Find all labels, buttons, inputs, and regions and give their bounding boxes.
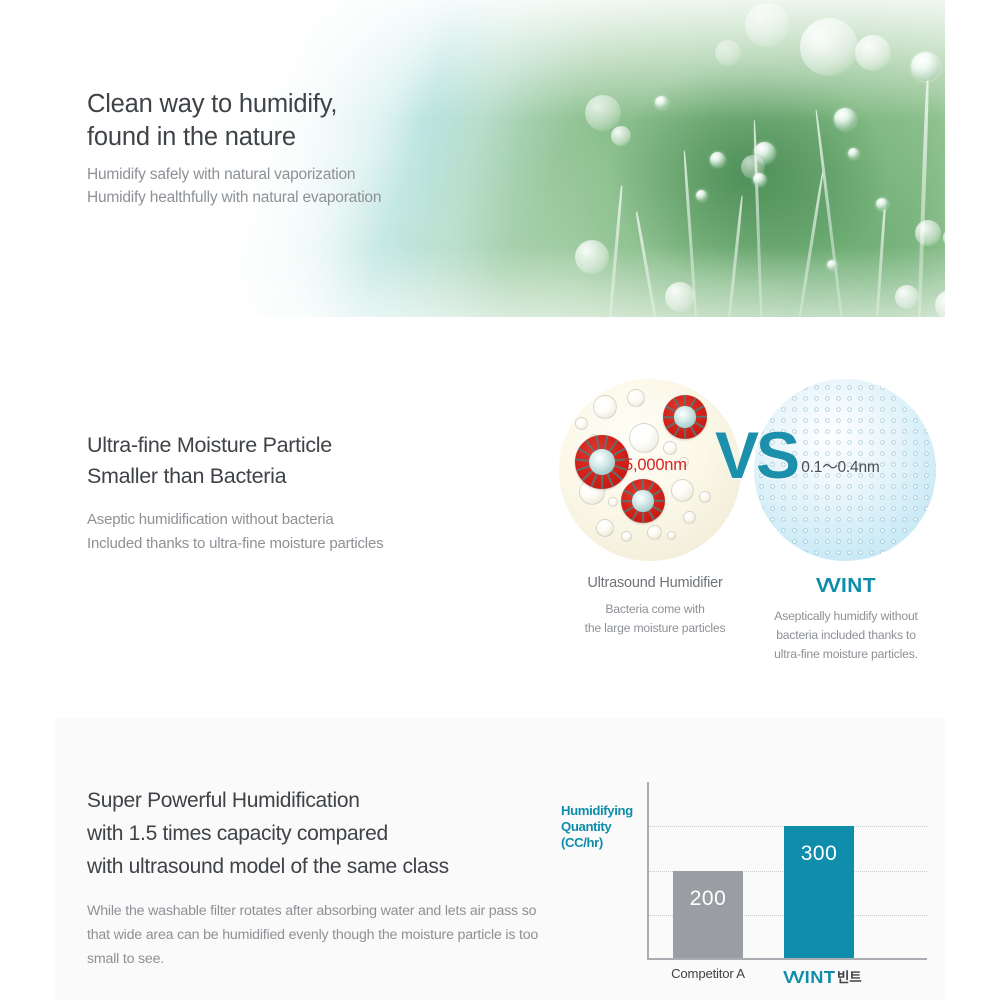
vvint-caption-body-line-1: Aseptically humidify without — [748, 607, 944, 626]
vvint-logo-int: INT — [805, 967, 836, 987]
particle-section: Ultra-fine Moisture Particle Smaller tha… — [55, 317, 945, 718]
humidifying-quantity-chart: Humidifying Quantity (CC/hr) 200 300 Com… — [555, 782, 955, 992]
chart-bar-value-vvint: 300 — [784, 842, 854, 866]
vvint-logo-text: VVINT — [816, 575, 876, 598]
chart-bar-vvint: 300 — [784, 826, 854, 958]
ultrasound-caption-heading: Ultrasound Humidifier — [560, 575, 750, 591]
particle-subtitle-line-2: Included thanks to ultra-fine moisture p… — [87, 532, 383, 556]
hero-text-block: Clean way to humidify, found in the natu… — [87, 88, 381, 209]
chart-bar-competitor-a: 200 — [673, 871, 743, 958]
hero-banner: Clean way to humidify, found in the natu… — [55, 0, 945, 317]
vs-comparison-graphic: 5,000nm ○ 0.1〜0.4nm VS Ultrasound Humidi… — [550, 375, 950, 695]
power-text-block: Super Powerful Humidification with 1.5 t… — [87, 784, 557, 971]
ultrasound-caption-body-line-1: Bacteria come with — [560, 600, 750, 619]
bacteria-icon — [621, 479, 665, 523]
hero-bottom-fade — [55, 247, 945, 317]
bacteria-icon — [663, 395, 707, 439]
particle-title-line-2: Smaller than Bacteria — [87, 461, 383, 492]
ultrasound-particle-size-label: 5,000nm — [624, 456, 687, 475]
power-title-line-2: with 1.5 times capacity compared — [87, 817, 557, 850]
particle-text-block: Ultra-fine Moisture Particle Smaller tha… — [87, 430, 383, 556]
particle-title-line-1: Ultra-fine Moisture Particle — [87, 430, 383, 461]
vvint-logo-vv: VV — [783, 967, 802, 987]
chart-bar-value-competitor-a: 200 — [673, 887, 743, 911]
vvint-caption-body-line-2: bacteria included thanks to — [748, 626, 944, 645]
vs-label: VS — [715, 422, 797, 488]
vvint-logo-text: VVINT — [783, 967, 836, 988]
chart-xtick-competitor-a: Competitor A — [653, 966, 763, 981]
chart-y-axis-label-line-1: Humidifying — [561, 803, 633, 819]
ultrasound-caption-body-line-2: the large moisture particles — [560, 619, 750, 638]
chart-y-axis-label-line-3: (CC/hr) — [561, 835, 633, 851]
chart-x-axis — [647, 958, 927, 960]
power-description: While the washable filter rotates after … — [87, 899, 557, 971]
chart-xtick-vvint: VVINT빈트 — [764, 966, 882, 988]
humidification-power-section: Super Powerful Humidification with 1.5 t… — [55, 718, 945, 1000]
vvint-caption-body: Aseptically humidify without bacteria in… — [748, 607, 944, 664]
power-title-line-3: with ultrasound model of the same class — [87, 850, 557, 883]
chart-y-axis-label-line-2: Quantity — [561, 819, 633, 835]
hero-title-line-2: found in the nature — [87, 121, 381, 154]
bacteria-icon — [575, 435, 629, 489]
vvint-logo-korean: 빈트 — [837, 970, 861, 985]
particle-subtitle-line-1: Aseptic humidification without bacteria — [87, 508, 383, 532]
vvint-logo-int: INT — [841, 575, 876, 597]
vvint-brand-logo: VVINT — [748, 575, 944, 598]
chart-plot-area: 200 300 Competitor A VVINT빈트 — [647, 782, 927, 960]
ultrasound-caption: Ultrasound Humidifier Bacteria come with… — [560, 575, 750, 638]
hero-subtitle-line-1: Humidify safely with natural vaporizatio… — [87, 163, 381, 186]
power-title-line-1: Super Powerful Humidification — [87, 784, 557, 817]
vvint-logo-vv: VV — [816, 575, 839, 597]
vvint-caption-body-line-3: ultra-fine moisture particles. — [748, 645, 944, 664]
hero-title-line-1: Clean way to humidify, — [87, 88, 381, 121]
vvint-particle-size-label: ○ 0.1〜0.4nm — [788, 455, 880, 477]
ultrasound-caption-body: Bacteria come with the large moisture pa… — [560, 600, 750, 638]
chart-y-axis-label: Humidifying Quantity (CC/hr) — [561, 803, 633, 851]
vvint-caption: VVINT Aseptically humidify without bacte… — [748, 575, 944, 664]
hero-subtitle-line-2: Humidify healthfully with natural evapor… — [87, 186, 381, 209]
